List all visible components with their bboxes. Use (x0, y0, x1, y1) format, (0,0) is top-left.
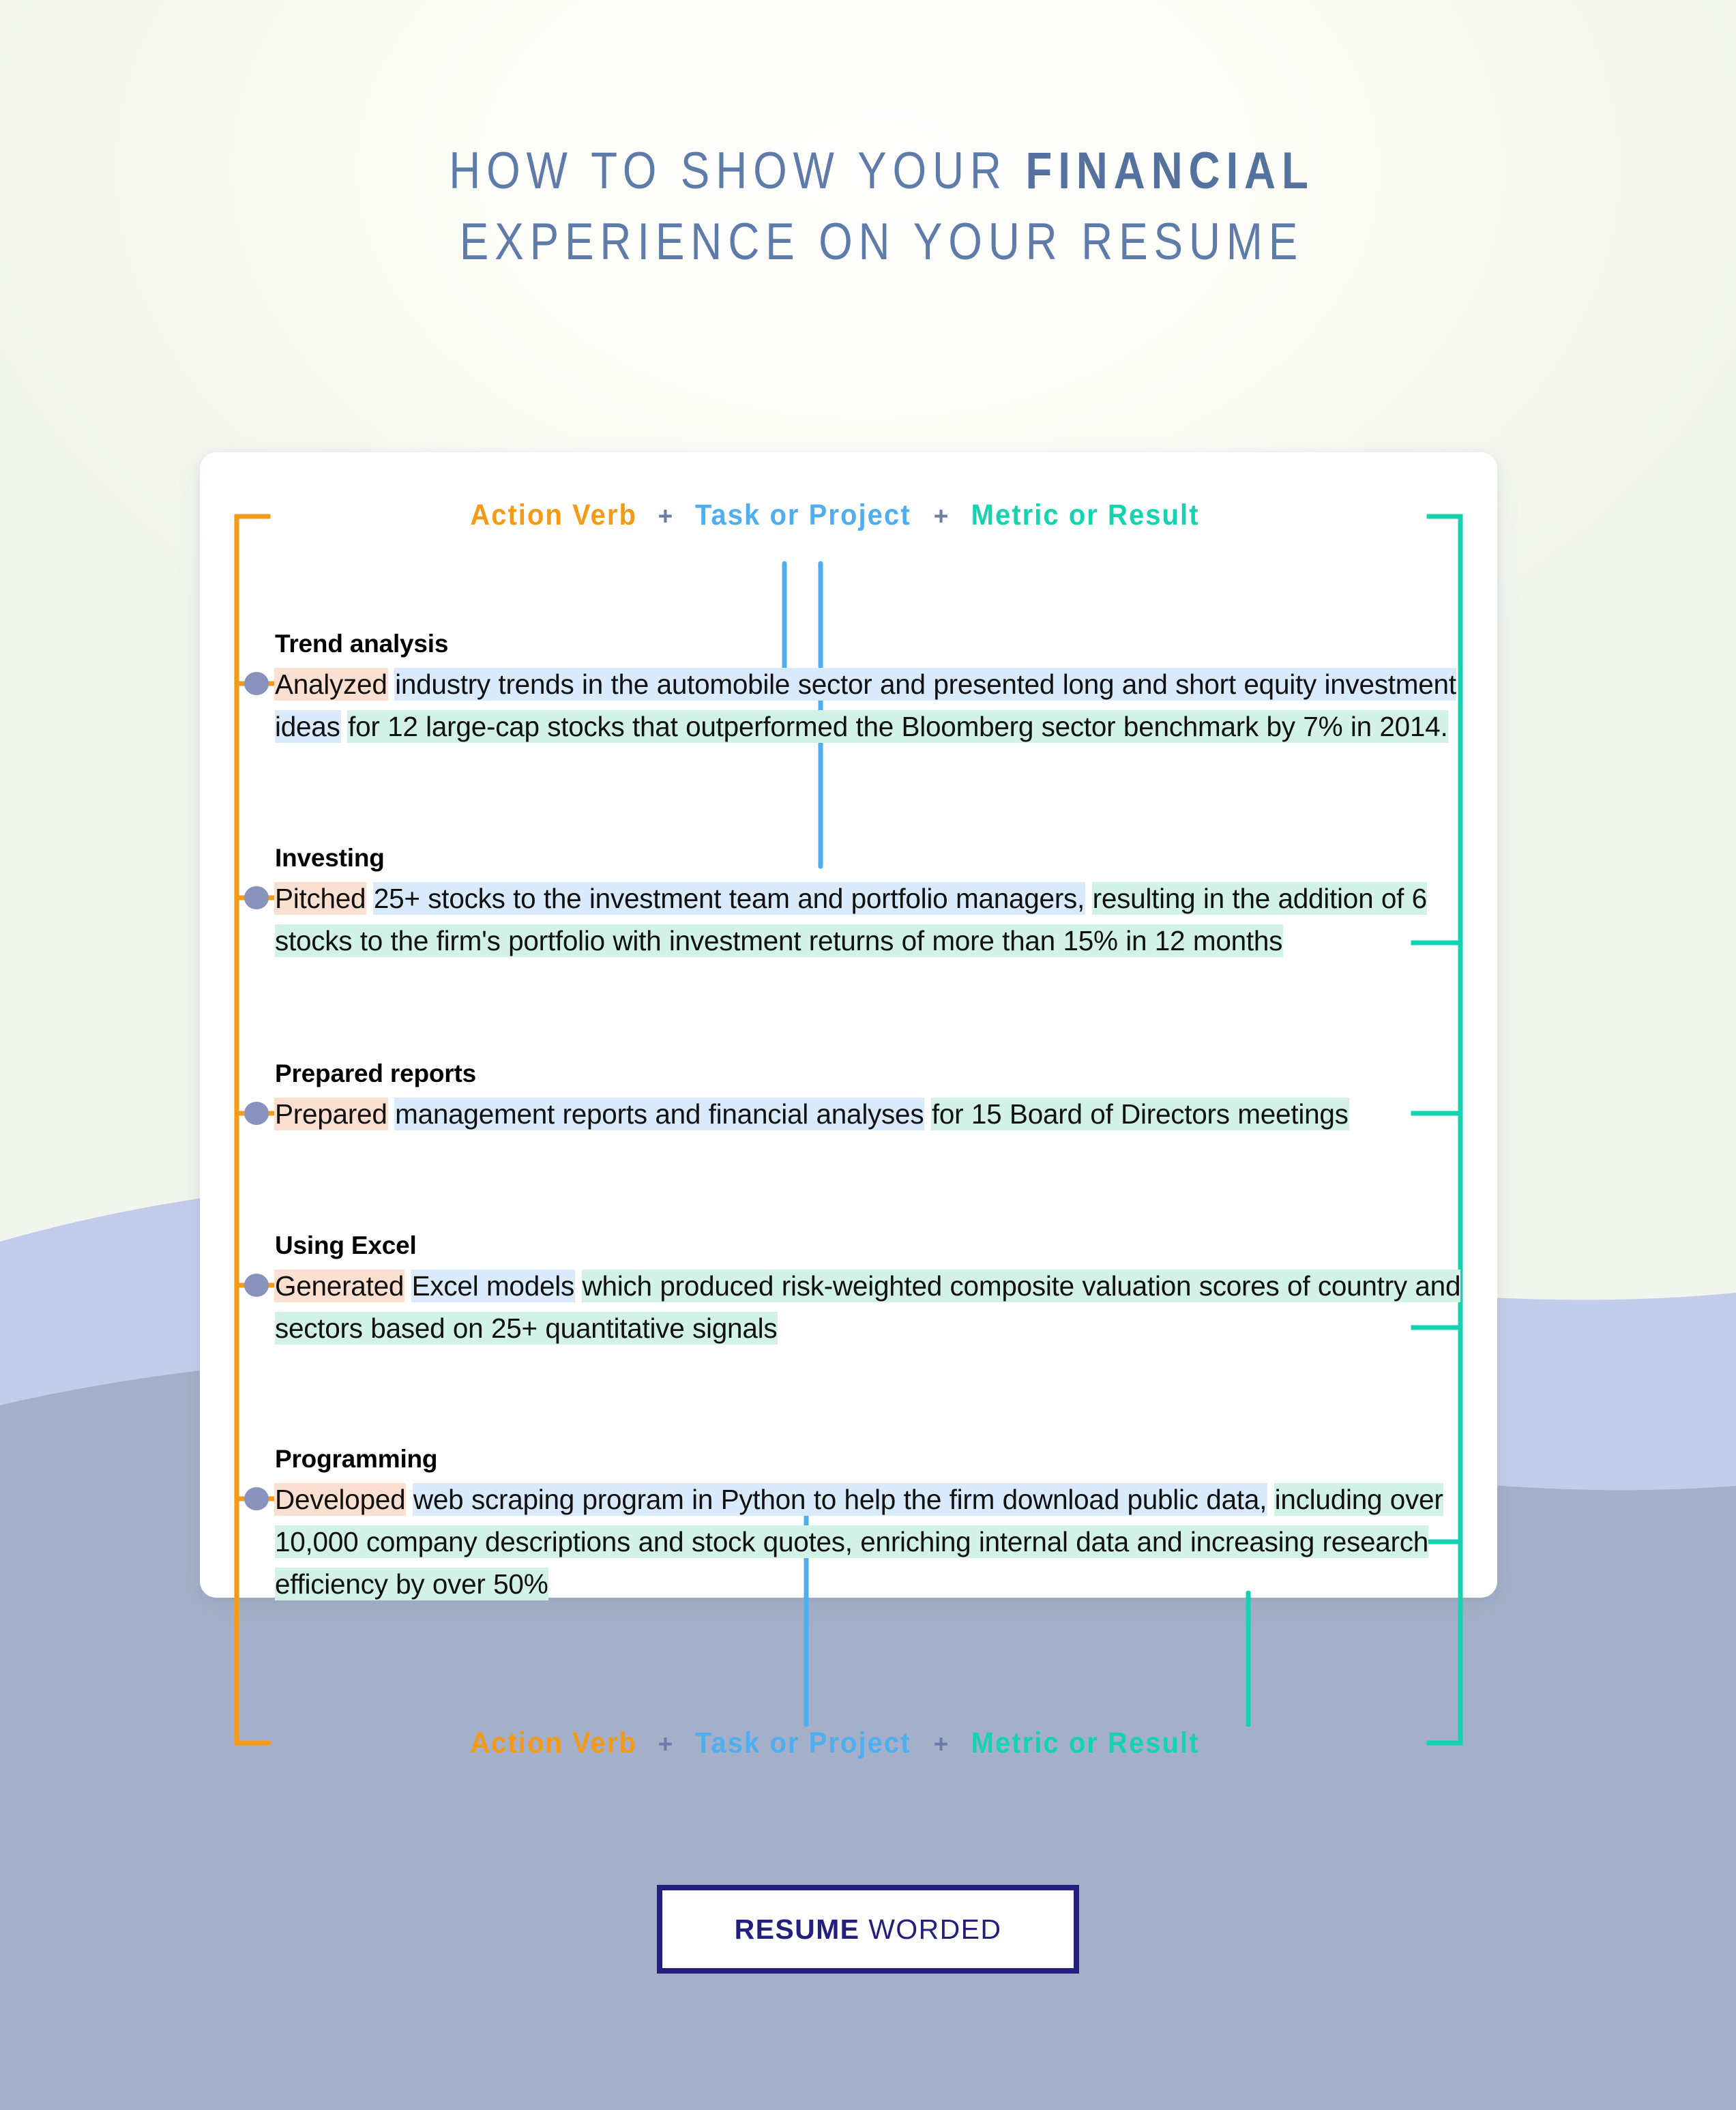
legend-task-or-project: Task or Project (695, 1729, 911, 1758)
title-line-2: EXPERIENCE ON YOUR RESUME (164, 216, 1599, 269)
highlight-task: management reports and financial analyse… (395, 1098, 924, 1130)
content-card (200, 452, 1497, 1598)
bullet-body: Prepared management reports and financia… (275, 1093, 1475, 1135)
logo-light-word: WORDED (859, 1914, 1001, 1945)
title-line-1-strong: FINANCIAL (1025, 142, 1314, 200)
title-line-1: HOW TO SHOW YOUR FINANCIAL (164, 145, 1599, 198)
legend-plus-1: + (658, 502, 673, 531)
highlight-action-verb: Analyzed (275, 669, 387, 700)
bullet-title: Investing (275, 843, 1475, 873)
legend-action-verb: Action Verb (471, 1729, 638, 1758)
highlight-action-verb: Prepared (275, 1098, 387, 1130)
bullet-title: Using Excel (275, 1231, 1475, 1261)
logo-text: RESUME WORDED (735, 1914, 1002, 1946)
page-title: HOW TO SHOW YOUR FINANCIAL EXPERIENCE ON… (0, 145, 1736, 268)
highlight-metric: for 15 Board of Directors meetings (932, 1098, 1349, 1130)
bullet-item-using-excel: Using Excel Generated Excel models which… (275, 1231, 1475, 1349)
bullet-item-trend-analysis: Trend analysis Analyzed industry trends … (275, 629, 1475, 748)
highlight-action-verb: Pitched (275, 883, 366, 914)
bullet-title: Programming (275, 1444, 1475, 1474)
bullet-title: Prepared reports (275, 1059, 1475, 1089)
bullet-item-investing: Investing Pitched 25+ stocks to the inve… (275, 843, 1475, 962)
logo-bold-word: RESUME (735, 1914, 860, 1945)
bullet-title: Trend analysis (275, 629, 1475, 659)
legend-plus-2: + (934, 502, 949, 531)
legend-plus-1: + (658, 1730, 673, 1759)
bullet-body: Generated Excel models which produced ri… (275, 1265, 1475, 1349)
bullet-body: Developed web scraping program in Python… (275, 1478, 1475, 1605)
highlight-task: 25+ stocks to the investment team and po… (374, 883, 1085, 914)
bullet-body: Analyzed industry trends in the automobi… (275, 663, 1475, 748)
highlight-action-verb: Generated (275, 1270, 404, 1302)
bullet-body: Pitched 25+ stocks to the investment tea… (275, 877, 1475, 962)
title-line-1-normal: HOW TO SHOW YOUR (449, 142, 1025, 200)
legend-metric-or-result: Metric or Result (971, 1729, 1200, 1758)
legend-plus-2: + (934, 1730, 949, 1759)
legend-row-bottom: Action Verb + Task or Project + Metric o… (200, 1723, 1497, 1763)
legend-action-verb: Action Verb (471, 501, 638, 530)
resume-worded-logo[interactable]: RESUME WORDED (657, 1885, 1079, 1974)
bullet-item-prepared-reports: Prepared reports Prepared management rep… (275, 1059, 1475, 1135)
legend-task-or-project: Task or Project (695, 501, 911, 530)
bullet-item-programming: Programming Developed web scraping progr… (275, 1444, 1475, 1605)
legend-metric-or-result: Metric or Result (971, 501, 1200, 530)
highlight-task: web scraping program in Python to help t… (413, 1484, 1267, 1515)
highlight-metric: for 12 large-cap stocks that outperforme… (348, 711, 1447, 742)
highlight-action-verb: Developed (275, 1484, 405, 1515)
highlight-task: Excel models (412, 1270, 574, 1302)
legend-row-top: Action Verb + Task or Project + Metric o… (200, 495, 1497, 536)
